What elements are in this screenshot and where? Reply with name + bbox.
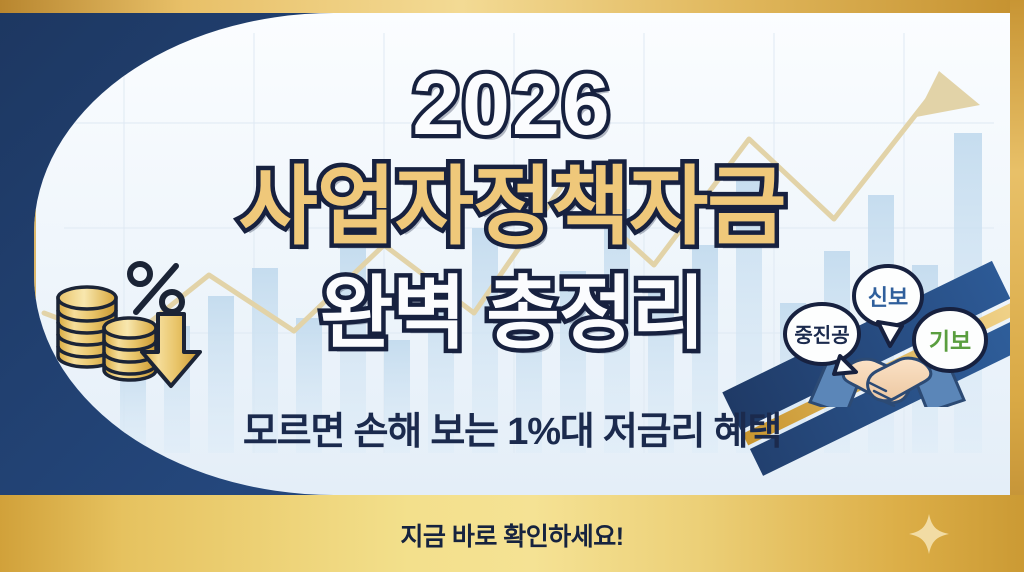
coin-stack-icon [48,258,208,398]
promo-banner: 중진공 신보 기보 2026 사업자정책자금 완벽 총정리 모르면 손해 보는 … [0,0,1024,572]
sparkle-icon [908,513,950,555]
gold-top-border [0,0,1024,13]
percent-icon [130,264,182,312]
bubble-gibo: 기보 [914,309,986,371]
trend-up-arrow-icon [916,71,980,117]
bubble-jungjingong: 중진공 [785,304,859,374]
handshake-partners-graphic: 중진공 신보 기보 [782,252,992,407]
bubble-label-1: 신보 [868,285,908,310]
gold-swoosh-arc-inner [34,13,330,495]
bubble-sinbo: 신보 [854,266,922,346]
coin-stack-short [104,318,156,380]
bubble-label-2: 기보 [929,328,971,354]
bubble-label-0: 중진공 [794,324,849,347]
cta-bar[interactable]: 지금 바로 확인하세요! [0,495,1024,572]
gold-right-border [1010,0,1024,572]
cta-label: 지금 바로 확인하세요! [400,517,623,553]
